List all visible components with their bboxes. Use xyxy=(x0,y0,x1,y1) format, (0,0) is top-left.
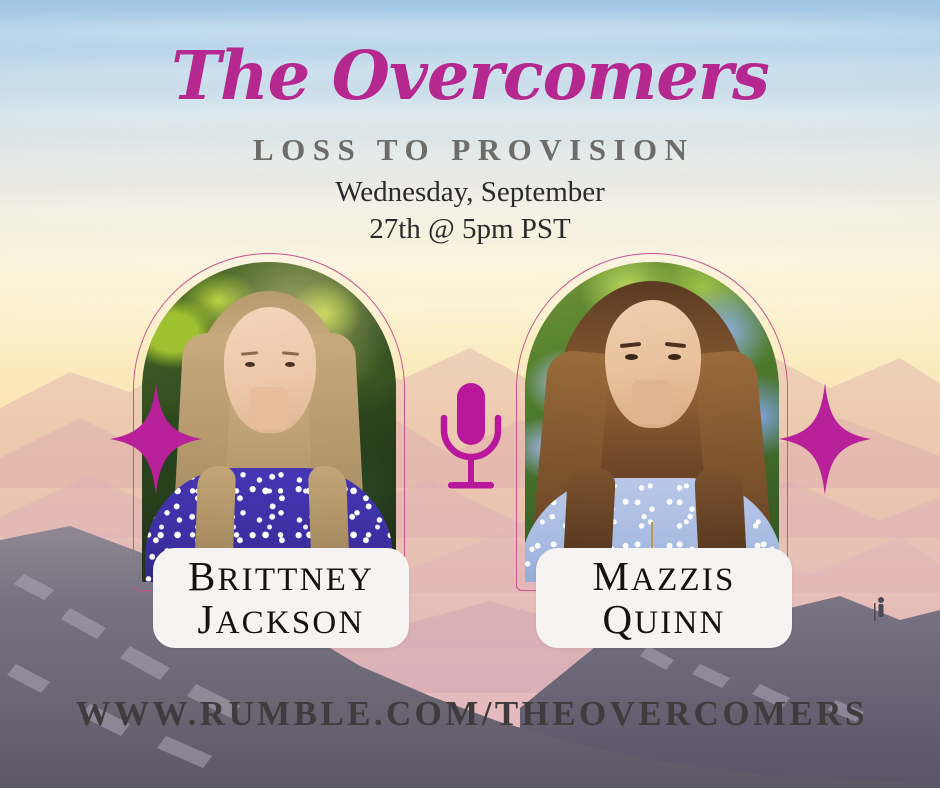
microphone-icon xyxy=(440,383,502,500)
guest-first-name: BRITTNEY xyxy=(188,555,374,598)
page-subtitle: LOSS TO PROVISION xyxy=(0,132,940,168)
website-url[interactable]: WWW.RUMBLE.COM/THEOVERCOMERS xyxy=(0,694,940,734)
eyebrow xyxy=(241,351,258,355)
eye xyxy=(668,354,681,360)
guest-last-name: QUINN xyxy=(602,598,725,641)
eye xyxy=(285,362,295,367)
eye xyxy=(625,354,638,360)
neck xyxy=(632,380,672,424)
guest-portrait-arch-right xyxy=(516,253,788,591)
sparkle-star-icon xyxy=(110,383,202,495)
eyebrow xyxy=(282,351,299,355)
event-date-line-2: 27th @ 5pm PST xyxy=(0,211,940,248)
eye xyxy=(245,362,255,367)
event-datetime: Wednesday, September 27th @ 5pm PST xyxy=(0,174,940,248)
portrait-image-mazzis-quinn xyxy=(525,262,779,582)
guest-name-card-right: MAZZIS QUINN xyxy=(536,548,792,648)
guest-first-name: MAZZIS xyxy=(592,555,735,598)
podcast-promo-poster: The Overcomers LOSS TO PROVISION Wednesd… xyxy=(0,0,940,788)
eyebrow xyxy=(665,342,686,348)
eyebrow xyxy=(620,342,641,348)
event-date-line-1: Wednesday, September xyxy=(0,174,940,211)
sparkle-star-icon xyxy=(779,383,871,495)
neck xyxy=(250,387,288,429)
guest-photo-right xyxy=(525,262,779,582)
guest-name-card-left: BRITTNEY JACKSON xyxy=(153,548,409,648)
page-title: The Overcomers xyxy=(0,42,940,109)
guest-last-name: JACKSON xyxy=(197,598,364,641)
